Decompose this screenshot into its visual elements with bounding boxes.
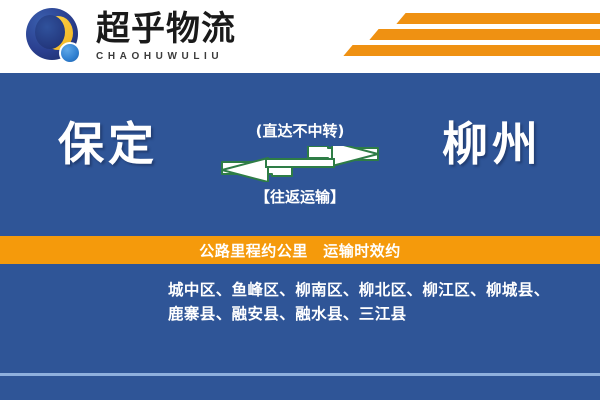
coverage-section: 城中区、鱼峰区、柳南区、柳北区、柳江区、柳城县、 鹿寨县、融安县、融水县、三江县 — [0, 264, 600, 373]
logistics-route-banner: 超乎物流 CHAOHUWULIU 保定 (直达不中转) 【往返运输】 柳州 — [0, 0, 600, 400]
coverage-line-1: 城中区、鱼峰区、柳南区、柳北区、柳江区、柳城县、 — [168, 278, 582, 302]
brand-logo: 超乎物流 CHAOHUWULIU — [26, 8, 236, 66]
route-note-roundtrip: 【往返运输】 — [0, 186, 600, 207]
destination-city: 柳州 — [442, 121, 542, 167]
coverage-line-2: 鹿寨县、融安县、融水县、三江县 — [168, 302, 582, 326]
stripe-3 — [343, 45, 600, 56]
distance-duration-bar: 公路里程约公里 运输时效约 — [0, 236, 600, 264]
brand-name-en: CHAOHUWULIU — [96, 51, 236, 62]
distance-duration-text: 公路里程约公里 运输时效约 — [199, 240, 401, 261]
bidirectional-arrow-icon — [220, 146, 380, 182]
logo-crescent-cutout — [35, 15, 65, 49]
logo-dot-icon — [59, 42, 81, 64]
logo-circle-icon — [26, 8, 84, 66]
brand-wordmark: 超乎物流 CHAOHUWULIU — [96, 12, 236, 62]
brand-name-cn: 超乎物流 — [96, 12, 236, 48]
banner-footer — [0, 376, 600, 400]
route-section: 保定 (直达不中转) 【往返运输】 柳州 — [0, 73, 600, 236]
coverage-area-list: 城中区、鱼峰区、柳南区、柳北区、柳江区、柳城县、 鹿寨县、融安县、融水县、三江县 — [168, 278, 582, 326]
banner-header: 超乎物流 CHAOHUWULIU — [0, 0, 600, 73]
stripe-2 — [369, 29, 600, 40]
stripe-1 — [396, 13, 600, 24]
header-stripes-decoration — [330, 12, 600, 62]
